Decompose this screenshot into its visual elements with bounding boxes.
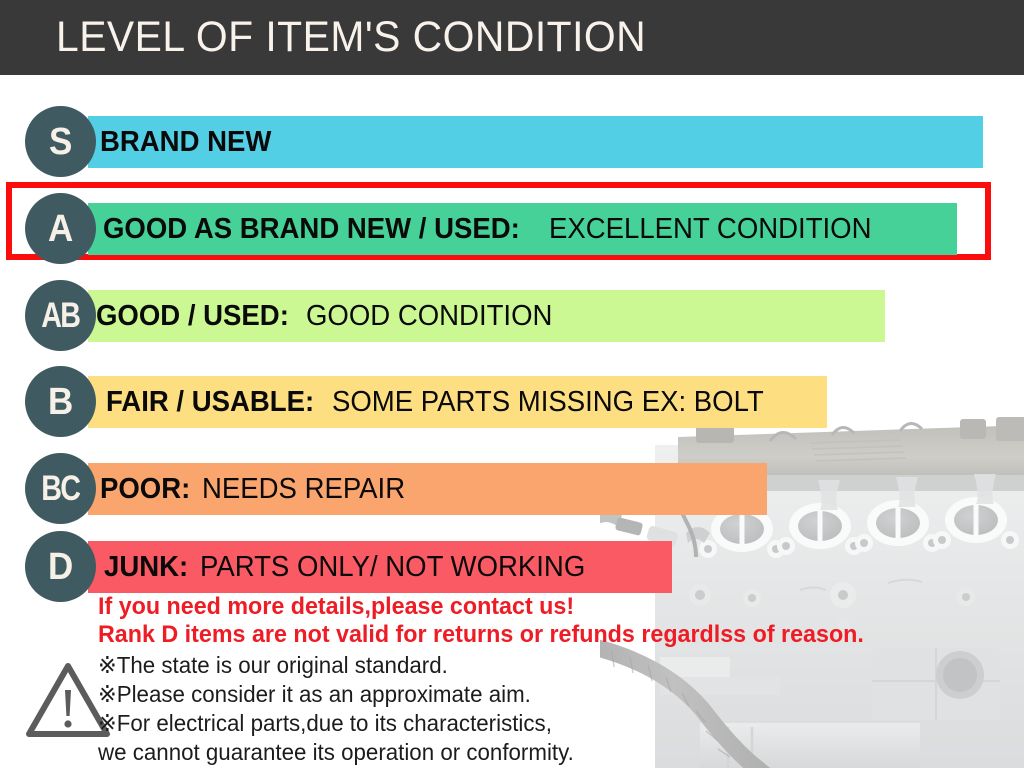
- footer-note-line-4: we cannot guarantee its operation or con…: [98, 739, 574, 766]
- rank-badge-label: A: [48, 210, 72, 248]
- rank-label-regular: GOOD CONDITION: [306, 300, 552, 333]
- footer-alert-line-1: If you need more details,please contact …: [98, 593, 574, 621]
- rank-label-bold: JUNK:: [104, 551, 188, 584]
- rank-badge-label: B: [48, 383, 72, 421]
- rank-label-regular: NEEDS REPAIR: [202, 473, 405, 506]
- rank-label-regular: EXCELLENT CONDITION: [549, 213, 872, 246]
- footer-notice-block: If you need more details,please contact …: [0, 590, 1024, 768]
- rank-badge-label: S: [49, 123, 71, 161]
- header-bar: LEVEL OF ITEM'S CONDITION: [0, 0, 1024, 75]
- rank-label-a: GOOD AS BRAND NEW / USED: EXCELLENT COND…: [103, 203, 888, 255]
- rank-label-regular: SOME PARTS MISSING EX: BOLT: [332, 386, 764, 419]
- rank-label-ab: GOOD / USED: GOOD CONDITION: [96, 290, 565, 342]
- rank-badge-b: B: [25, 366, 96, 437]
- rank-badge-a: A: [25, 193, 96, 264]
- rank-label-s: BRAND NEW: [100, 116, 280, 168]
- rank-label-regular: PARTS ONLY/ NOT WORKING: [200, 551, 585, 584]
- rank-badge-bc: BC: [25, 453, 96, 524]
- rank-label-bold: GOOD AS BRAND NEW / USED:: [103, 213, 520, 246]
- rank-badge-label: BC: [41, 470, 79, 508]
- rank-badge-s: S: [25, 106, 96, 177]
- footer-note-line-1: ※The state is our original standard.: [98, 652, 448, 679]
- rank-label-bold: BRAND NEW: [100, 126, 271, 159]
- rank-label-d: JUNK: PARTS ONLY/ NOT WORKING: [104, 541, 605, 593]
- footer-note-line-3: ※For electrical parts,due to its charact…: [98, 710, 552, 737]
- rank-badge-ab: AB: [25, 280, 96, 351]
- footer-alert-line-2: Rank D items are not valid for returns o…: [98, 621, 864, 649]
- rank-badge-label: D: [48, 548, 72, 586]
- rank-label-b: FAIR / USABLE: SOME PARTS MISSING EX: BO…: [106, 376, 787, 428]
- condition-grading-infographic: LEVEL OF ITEM'S CONDITION S BRAND NEW A …: [0, 0, 1024, 768]
- rank-label-bold: POOR:: [100, 473, 190, 506]
- rank-label-bc: POOR: NEEDS REPAIR: [100, 463, 416, 515]
- page-title: LEVEL OF ITEM'S CONDITION: [56, 13, 646, 62]
- rank-label-bold: FAIR / USABLE:: [106, 386, 314, 419]
- footer-note-line-2: ※Please consider it as an approximate ai…: [98, 681, 531, 708]
- rank-label-bold: GOOD / USED:: [96, 300, 289, 333]
- rank-badge-label: AB: [41, 297, 79, 335]
